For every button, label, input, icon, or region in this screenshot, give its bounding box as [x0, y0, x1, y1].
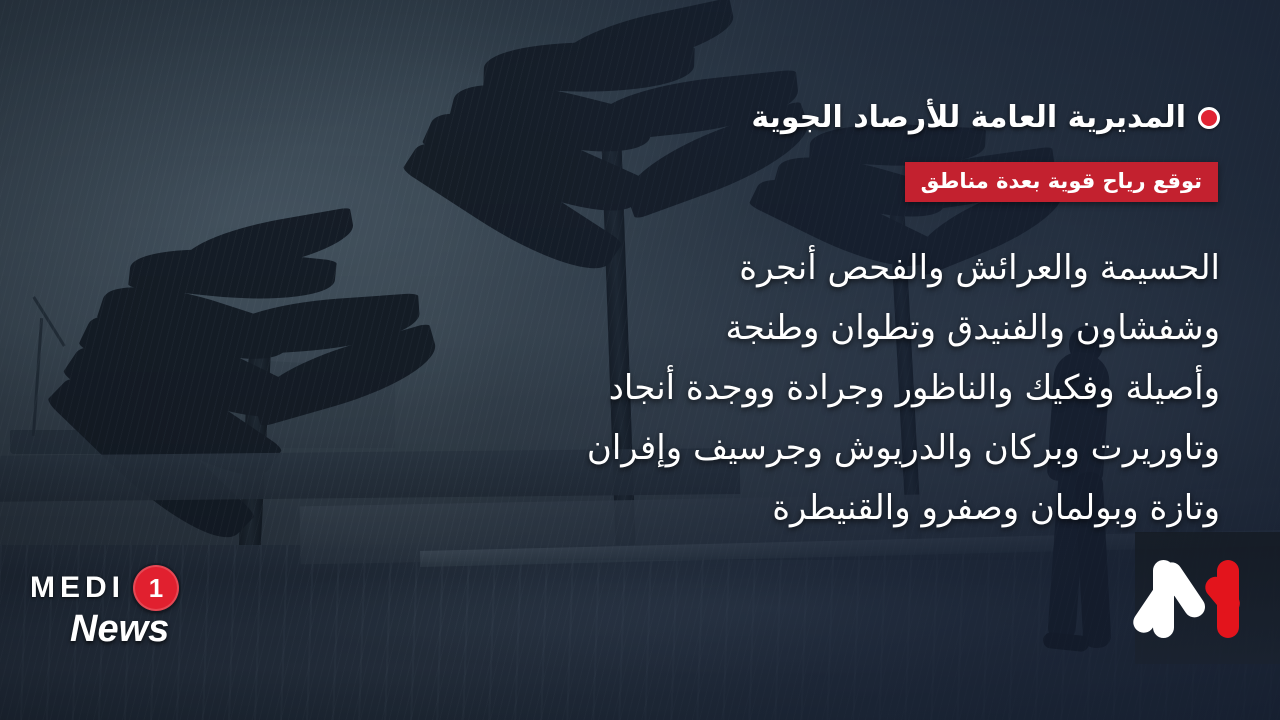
live-dot-icon — [1198, 107, 1220, 129]
medi1-logo-top-row: MEDI 1 — [24, 566, 224, 610]
page-title: المديرية العامة للأرصاد الجوية — [751, 100, 1186, 136]
sub-banner: توقع رياح قوية بعدة مناطق — [905, 162, 1218, 202]
m1-channel-bug — [1135, 532, 1280, 664]
m1-logo-icon — [1151, 556, 1263, 638]
medi-wordmark: MEDI — [30, 571, 125, 605]
broadcast-frame: المديرية العامة للأرصاد الجوية توقع رياح… — [0, 0, 1280, 720]
body-line: الحسيمة والعرائش والفحص أنجرة — [60, 238, 1220, 298]
medi-one-badge-number: 1 — [149, 575, 163, 601]
body-line: وتازة وبولمان وصفرو والقنيطرة — [60, 478, 1220, 538]
body-line: وتاوريرت وبركان والدريوش وجرسيف وإفران — [60, 418, 1220, 478]
news-wordmark: News — [24, 608, 224, 651]
medi-one-badge-icon: 1 — [133, 565, 179, 611]
body-text: الحسيمة والعرائش والفحص أنجرة وشفشاون وا… — [60, 238, 1220, 538]
medi1-news-logo: MEDI 1 News — [24, 566, 224, 652]
headline-row: المديرية العامة للأرصاد الجوية — [751, 100, 1220, 136]
body-line: وشفشاون والفنيدق وتطوان وطنجة — [60, 298, 1220, 358]
body-line: وأصيلة وفكيك والناظور وجرادة ووجدة أنجاد — [60, 358, 1220, 418]
